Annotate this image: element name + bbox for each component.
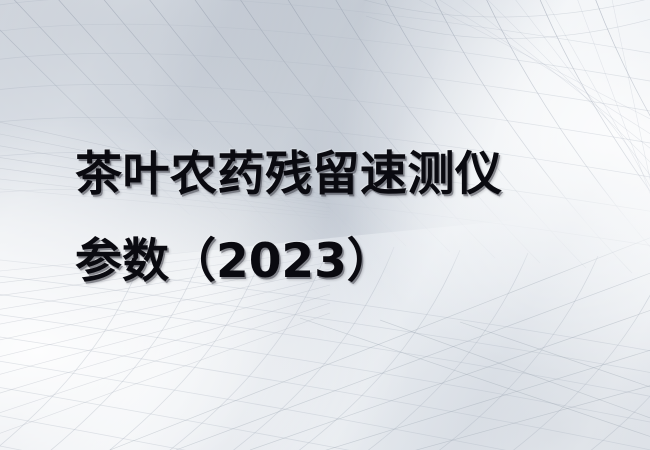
title-banner: 茶叶农药残留速测仪 参数（2023） bbox=[0, 0, 650, 450]
headline-line-2: 参数（2023） bbox=[75, 218, 595, 305]
headline-block: 茶叶农药残留速测仪 参数（2023） bbox=[75, 131, 595, 305]
headline-line-1: 茶叶农药残留速测仪 bbox=[75, 131, 595, 218]
